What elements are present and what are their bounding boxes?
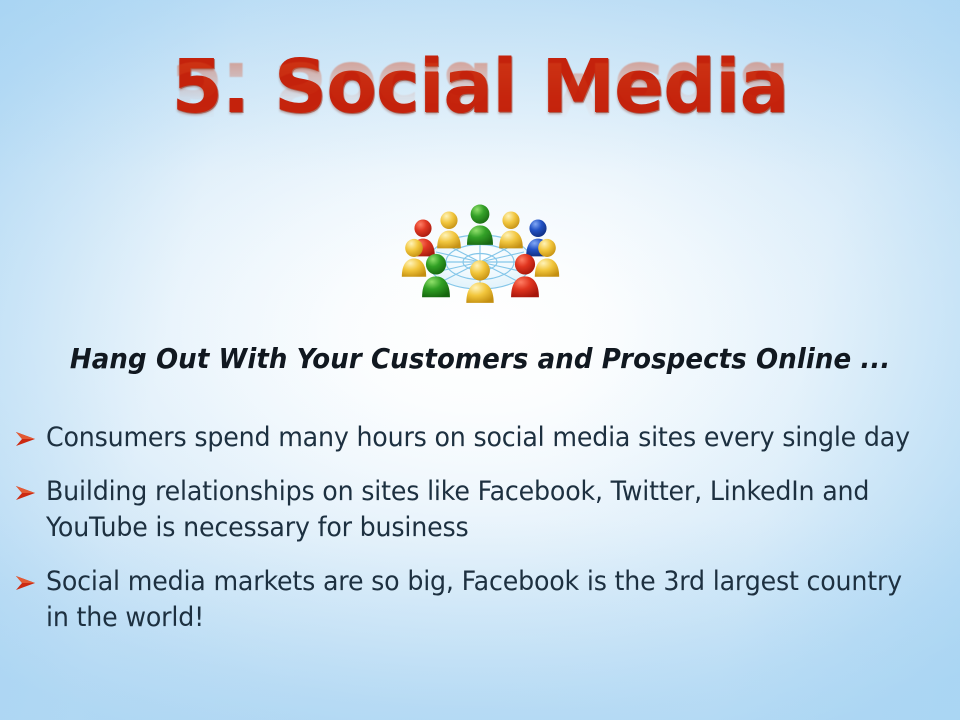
arrow-bullet-icon bbox=[14, 420, 46, 449]
list-item-line: Consumers spend many hours on social med… bbox=[46, 420, 910, 456]
list-item-line: Social media markets are so big, Faceboo… bbox=[46, 564, 909, 600]
list-item-text: Social media markets are so big, Faceboo… bbox=[46, 564, 909, 636]
list-item-text: Consumers spend many hours on social med… bbox=[46, 420, 910, 456]
subtitle-text: Hang Out With Your Customers and Prospec… bbox=[70, 340, 891, 378]
arrow-bullet-icon bbox=[14, 564, 46, 593]
social-network-people-globe-icon bbox=[392, 192, 568, 320]
list-item: Consumers spend many hours on social med… bbox=[14, 420, 950, 456]
subtitle-block: Hang Out With Your Customers and Prospec… bbox=[0, 340, 960, 378]
slide-canvas: 5. Social Media 5. Social Media bbox=[0, 0, 960, 720]
list-item-line: Building relationships on sites like Fac… bbox=[46, 474, 909, 510]
list-item-line: YouTube is necessary for business bbox=[46, 510, 909, 546]
page-title: 5. Social Media bbox=[0, 46, 960, 128]
list-item-line: in the world! bbox=[46, 600, 909, 636]
title-block: 5. Social Media 5. Social Media bbox=[0, 46, 960, 211]
list-item: Social media markets are so big, Faceboo… bbox=[14, 564, 950, 636]
list-item: Building relationships on sites like Fac… bbox=[14, 474, 950, 546]
arrow-bullet-icon bbox=[14, 474, 46, 503]
bullet-list: Consumers spend many hours on social med… bbox=[14, 420, 950, 654]
list-item-text: Building relationships on sites like Fac… bbox=[46, 474, 909, 546]
